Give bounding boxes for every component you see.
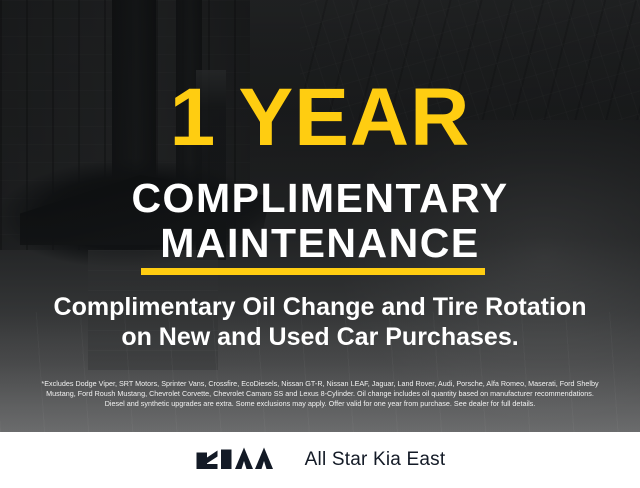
disclaimer-text: *Excludes Dodge Viper, SRT Motors, Sprin… (12, 379, 628, 408)
yellow-divider-rule (141, 268, 485, 275)
dealer-name: All Star Kia East (305, 449, 446, 471)
disclaimer-line-1: *Excludes Dodge Viper, SRT Motors, Sprin… (12, 379, 628, 389)
promotional-banner: 1 YEAR COMPLIMENTARY MAINTENANCE Complim… (0, 0, 640, 488)
disclaimer-line-2: Mustang, Ford Roush Mustang, Chevrolet C… (12, 389, 628, 399)
headline-year: 1 YEAR (0, 76, 640, 160)
kia-logo (195, 445, 283, 476)
hero-background-photo: 1 YEAR COMPLIMENTARY MAINTENANCE Complim… (0, 0, 640, 432)
disclaimer-line-3: Diesel and synthetic upgrades are extra.… (12, 399, 628, 409)
subheadline-line-2: on New and Used Car Purchases. (0, 322, 640, 352)
footer-bar: All Star Kia East (0, 432, 640, 488)
headline-maintenance: MAINTENANCE (0, 222, 640, 264)
headline-complimentary: COMPLIMENTARY (0, 177, 640, 219)
headline-block: 1 YEAR COMPLIMENTARY MAINTENANCE Complim… (0, 0, 640, 432)
subheadline-line-1: Complimentary Oil Change and Tire Rotati… (0, 292, 640, 322)
